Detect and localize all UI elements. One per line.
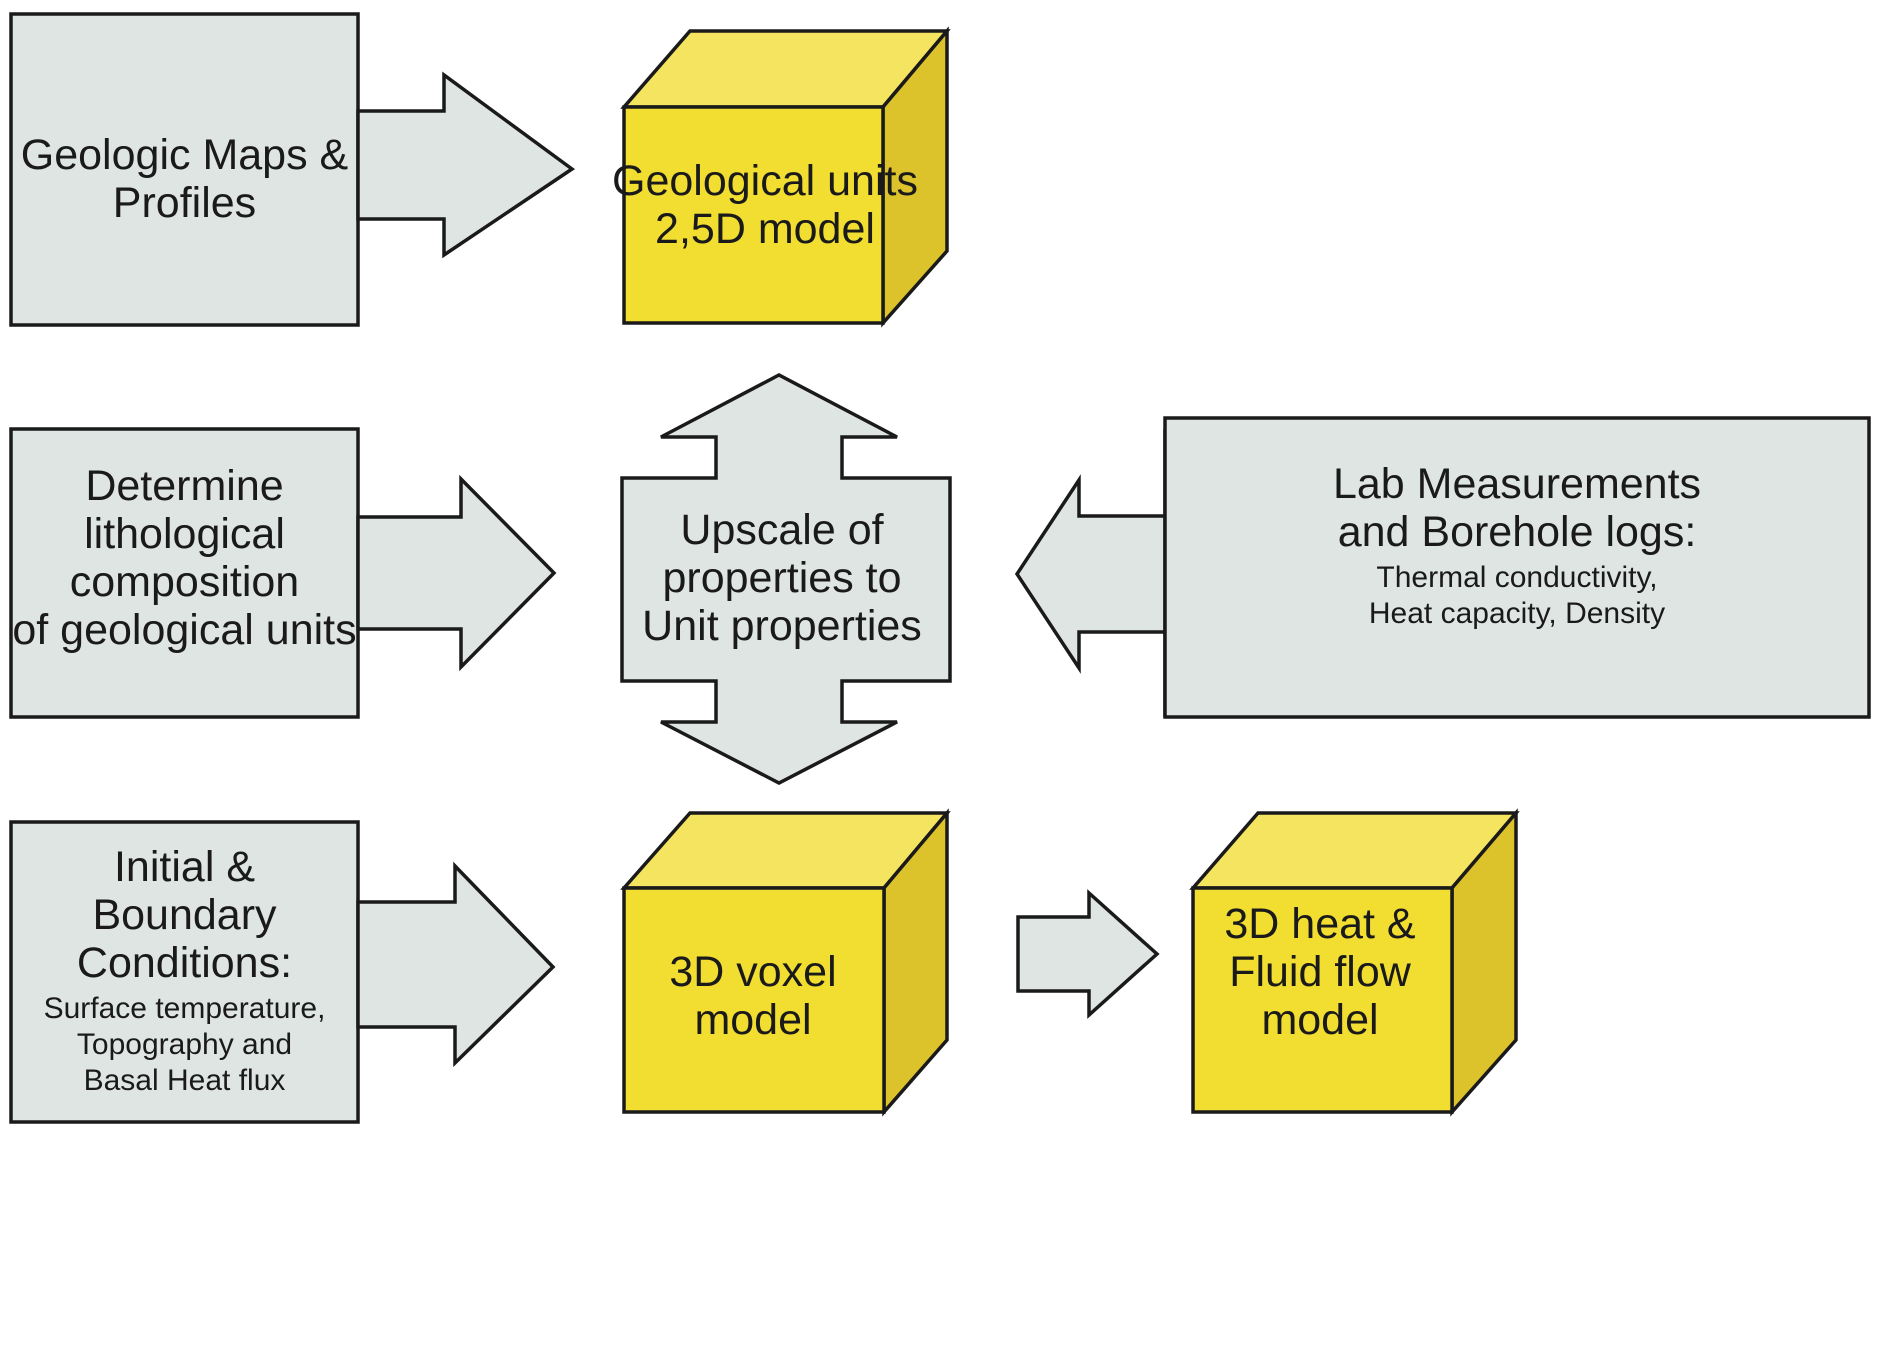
node-heat-fluid-flow-cube[interactable] <box>1193 813 1516 1112</box>
node-upscale-properties-four-way-arrow[interactable] <box>622 375 950 783</box>
arrow-litho-to-upscale[interactable] <box>358 479 554 667</box>
cube-front-face <box>1193 888 1452 1112</box>
arrow-maps-to-units[interactable] <box>358 75 572 255</box>
diagram-canvas: Geologic Maps & Profiles Geological unit… <box>0 0 1881 1364</box>
cube-front-face <box>624 888 884 1112</box>
node-initial-boundary-conditions-box[interactable] <box>11 822 358 1122</box>
arrow-lab-to-upscale[interactable] <box>1017 429 1165 717</box>
node-lab-measurements-box[interactable] <box>1165 418 1869 717</box>
cube-front-face <box>624 107 883 323</box>
node-voxel-model-cube[interactable] <box>624 813 947 1112</box>
diagram-shapes <box>0 0 1881 1364</box>
node-geologic-maps-box[interactable] <box>11 14 358 325</box>
arrow-conditions-to-voxel[interactable] <box>358 866 553 1063</box>
node-lithological-composition-box[interactable] <box>11 429 358 717</box>
node-geological-units-cube[interactable] <box>624 31 947 323</box>
arrow-voxel-to-heatflow[interactable] <box>1018 893 1157 1015</box>
